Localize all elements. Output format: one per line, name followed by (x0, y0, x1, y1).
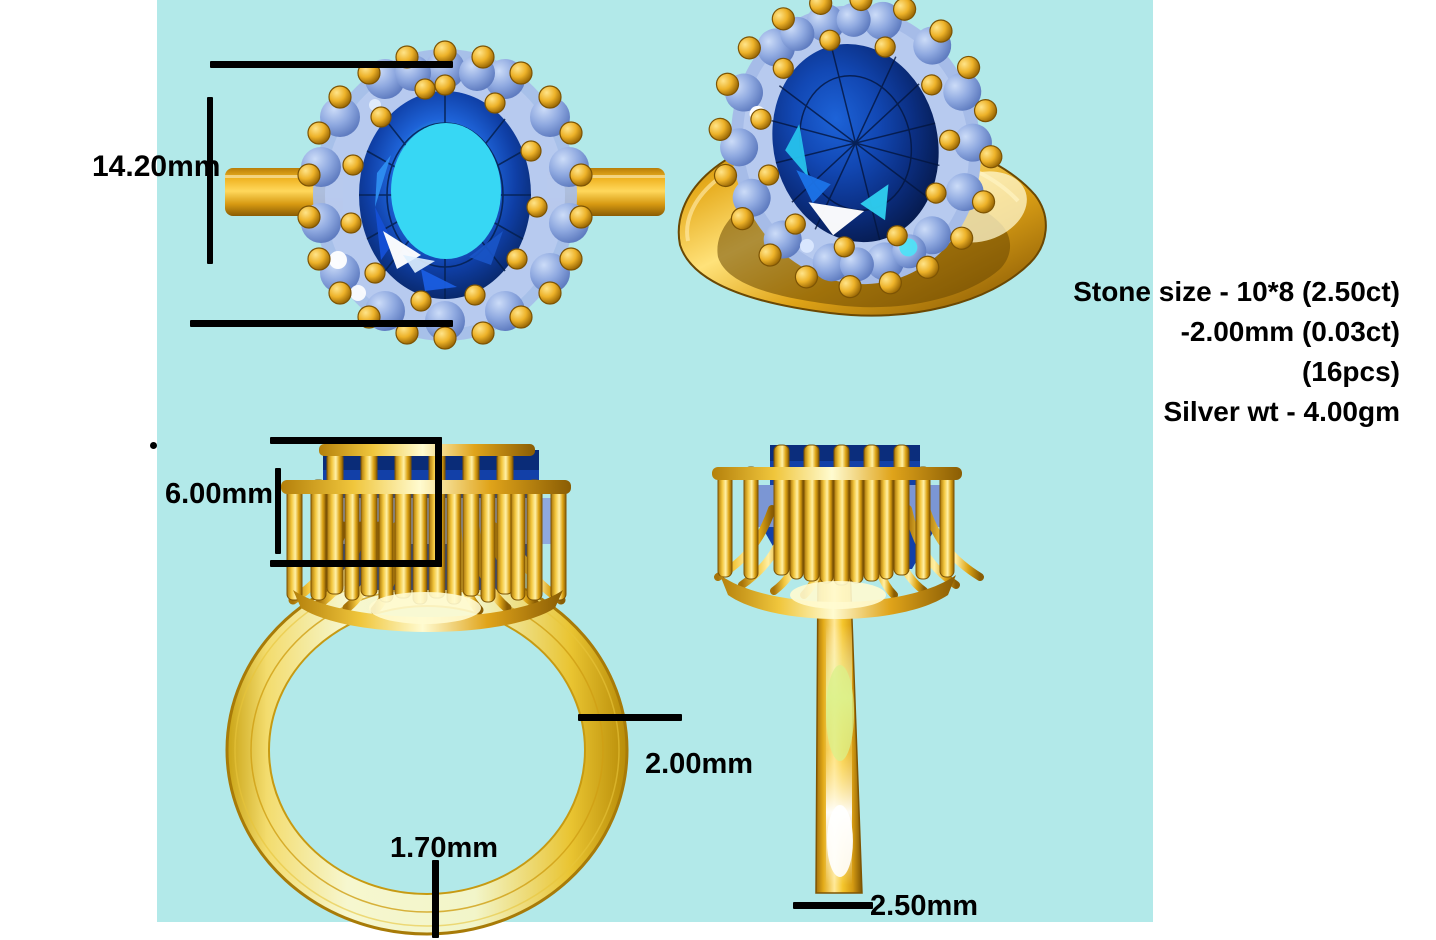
dim-line-bottom-6-00 (270, 560, 442, 567)
dim-line-2-00 (578, 714, 682, 721)
dim-arrow-1-70 (432, 860, 439, 938)
dim-label-6-00: 6.00mm (165, 478, 273, 511)
prong-basket-front (712, 445, 980, 619)
ring-front-elevation-view (700, 445, 1000, 915)
ring-perspective-view (660, 0, 1060, 335)
drawing-canvas: 14.20mm (0, 0, 1436, 938)
spec-line-accent-size: -2.00mm (0.03ct) (1073, 312, 1400, 352)
dim-line-top-6-00 (270, 437, 442, 444)
spec-line-stone-size: Stone size - 10*8 (2.50ct) (1073, 272, 1400, 312)
dim-line-2-50 (793, 902, 873, 909)
spec-text-block: Stone size - 10*8 (2.50ct) -2.00mm (0.03… (1073, 272, 1400, 432)
prong-basket (281, 444, 571, 632)
dim-arrow-6-00 (275, 468, 281, 554)
dim-label-2-50: 2.50mm (870, 890, 978, 923)
dim-line-top-14-20 (210, 61, 453, 68)
spec-line-accent-count: (16pcs) (1073, 352, 1400, 392)
dim-label-1-70: 1.70mm (390, 832, 498, 865)
dim-label-14-20: 14.20mm (92, 150, 220, 184)
dim-line-bottom-14-20 (190, 320, 453, 327)
dim-line-right-6-00 (435, 437, 442, 567)
spec-line-metal-weight: Silver wt - 4.00gm (1073, 392, 1400, 432)
ring-top-view (225, 55, 665, 345)
dim-dot-marker (150, 442, 157, 449)
